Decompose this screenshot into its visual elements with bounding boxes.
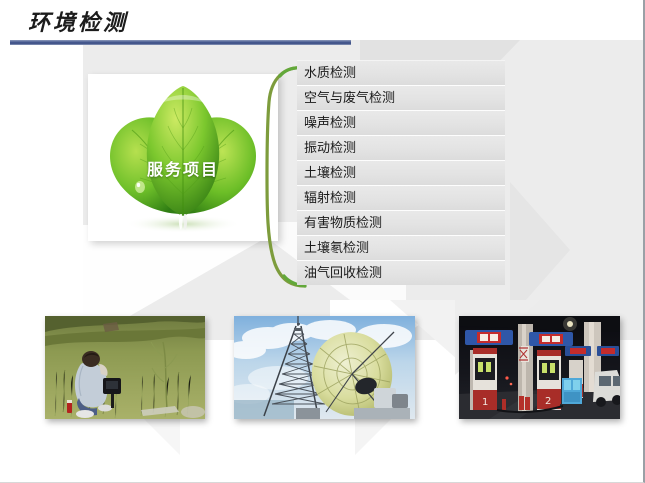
list-item[interactable]: 噪声检测 — [297, 110, 505, 135]
tower-antenna-photo — [234, 316, 415, 419]
service-list: 水质检测 空气与废气检测 噪声检测 振动检测 土壤检测 辐射检测 有害物质检测 … — [297, 60, 505, 285]
page-title: 环境检测 — [28, 5, 128, 37]
three-leaves-icon — [88, 74, 278, 241]
list-item[interactable]: 土壤氡检测 — [297, 235, 505, 260]
gas-station-image: 1 2 — [459, 316, 620, 419]
list-item[interactable]: 有害物质检测 — [297, 210, 505, 235]
list-item[interactable]: 辐射检测 — [297, 185, 505, 210]
list-item[interactable]: 油气回收检测 — [297, 260, 505, 285]
list-item[interactable]: 振动检测 — [297, 135, 505, 160]
slide-canvas: 环境检测 — [0, 0, 645, 483]
list-item[interactable]: 空气与废气检测 — [297, 85, 505, 110]
tower-antenna-image — [234, 316, 415, 419]
list-item[interactable]: 土壤检测 — [297, 160, 505, 185]
title-underline-rule — [10, 40, 351, 45]
leaf-logo-card: 服务项目 — [88, 74, 278, 241]
background-diagonal-4 — [510, 182, 570, 318]
field-sampling-photo — [45, 316, 205, 419]
svg-text:1: 1 — [482, 397, 488, 408]
gas-station-photo: 1 2 — [459, 316, 620, 419]
field-sampling-image — [45, 316, 205, 419]
list-item[interactable]: 水质检测 — [297, 60, 505, 85]
svg-text:2: 2 — [545, 396, 551, 407]
